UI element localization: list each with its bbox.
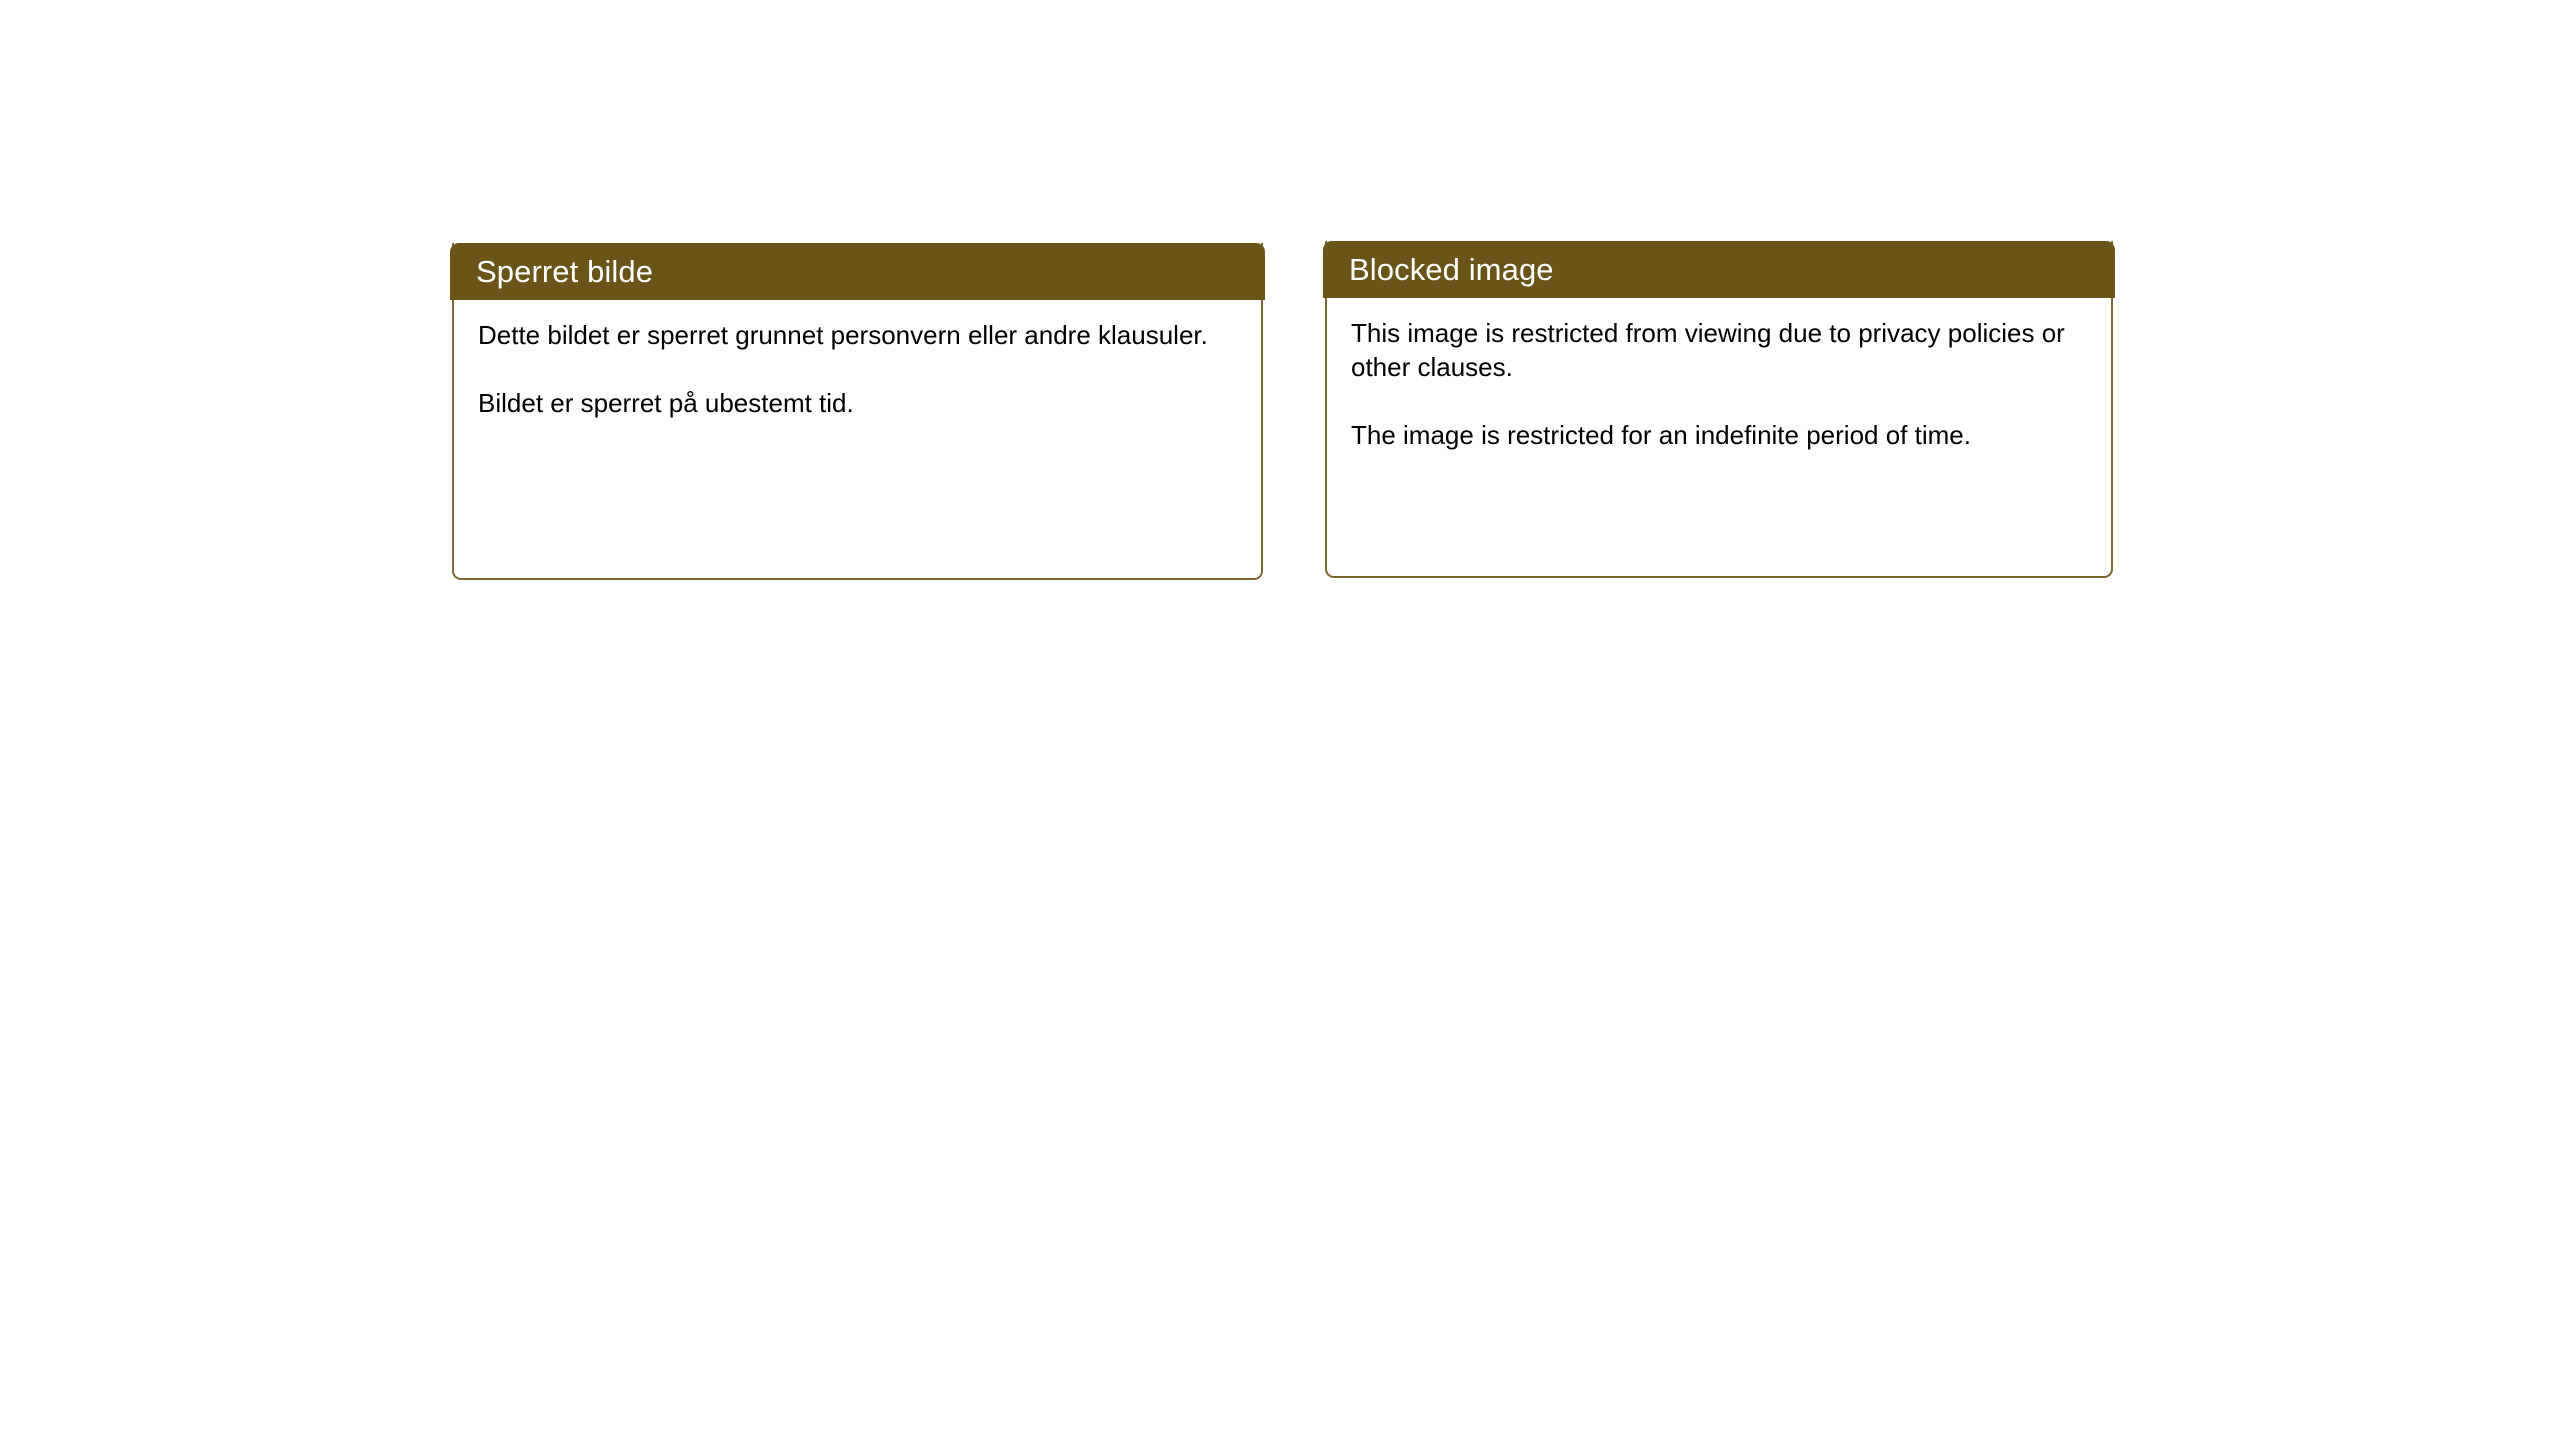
notice-card-text: Dette bildet er sperret grunnet personve… [478,318,1243,420]
notice-card-text: This image is restricted from viewing du… [1351,316,2093,452]
notice-paragraph: Dette bildet er sperret grunnet personve… [478,318,1243,352]
notice-paragraph: Bildet er sperret på ubestemt tid. [478,386,1243,420]
notice-paragraph: This image is restricted from viewing du… [1351,316,2093,384]
blocked-image-notice-card-norwegian: Dette bildet er sperret grunnet personve… [452,243,1263,580]
notice-card-header: Sperret bilde [450,243,1265,300]
notice-card-header: Blocked image [1323,241,2115,298]
blocked-image-notice-card-english: This image is restricted from viewing du… [1325,241,2113,578]
notice-card-title: Blocked image [1349,252,1554,288]
page-canvas: Dette bildet er sperret grunnet personve… [0,0,2560,1440]
notice-card-title: Sperret bilde [476,254,653,290]
notice-paragraph: The image is restricted for an indefinit… [1351,418,2093,452]
